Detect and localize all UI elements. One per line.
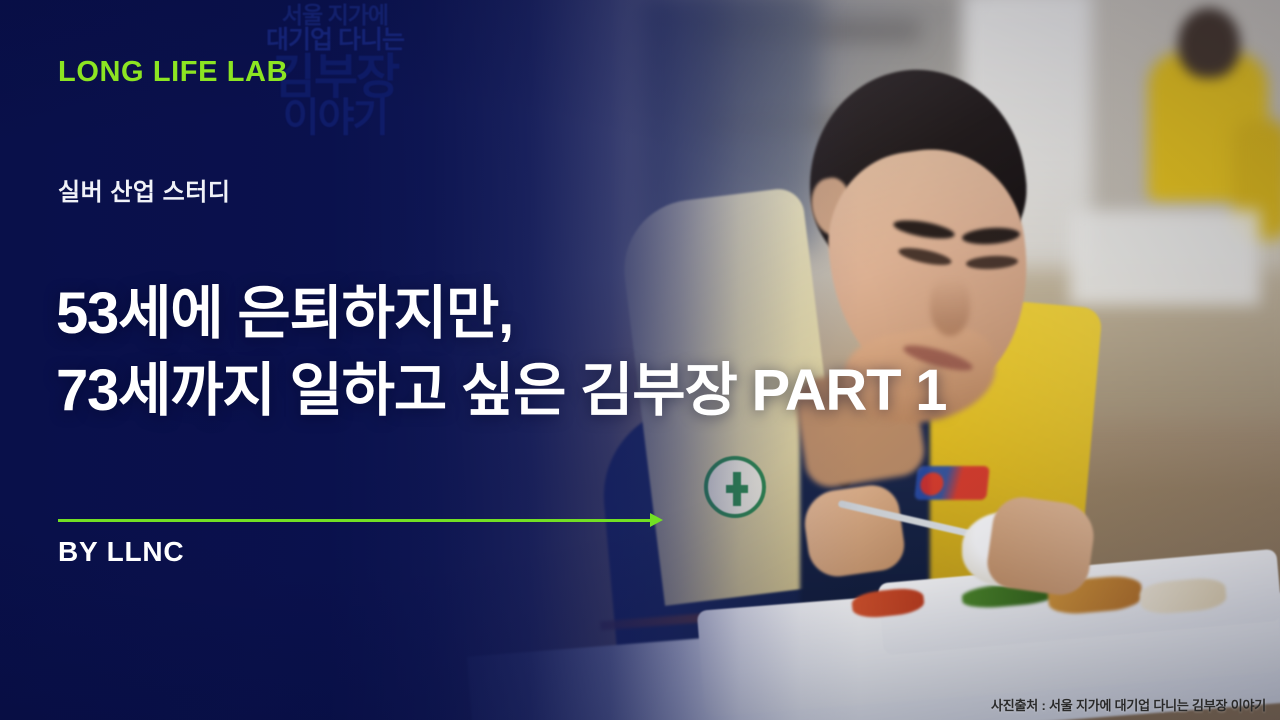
headline-line-2: 73세까지 일하고 싶은 김부장 PART 1 bbox=[56, 353, 1176, 430]
watermark-line-1: 서울 지가에 bbox=[230, 4, 440, 27]
slide-canvas: 서울 지가에 대기업 다니는 김부장 이야기 LONG LIFE LAB 실버 … bbox=[0, 0, 1280, 720]
watermark-line-4: 이야기 bbox=[230, 99, 440, 138]
headline-line-1: 53세에 은퇴하지만, bbox=[56, 276, 1176, 353]
series-kicker: 실버 산업 스터디 bbox=[58, 172, 230, 207]
byline: BY LLNC bbox=[58, 536, 184, 568]
brand-logo-text: LONG LIFE LAB bbox=[58, 56, 288, 89]
divider-line bbox=[58, 519, 656, 522]
watermark-line-2: 대기업 다니는 bbox=[230, 28, 440, 53]
photo-credit: 사진출처 : 서울 지가에 대기업 다니는 김부장 이야기 bbox=[991, 695, 1266, 714]
arrow-right-icon bbox=[650, 513, 663, 527]
page-title: 53세에 은퇴하지만, 73세까지 일하고 싶은 김부장 PART 1 bbox=[56, 276, 1176, 429]
accent-arrow-divider bbox=[58, 518, 662, 522]
